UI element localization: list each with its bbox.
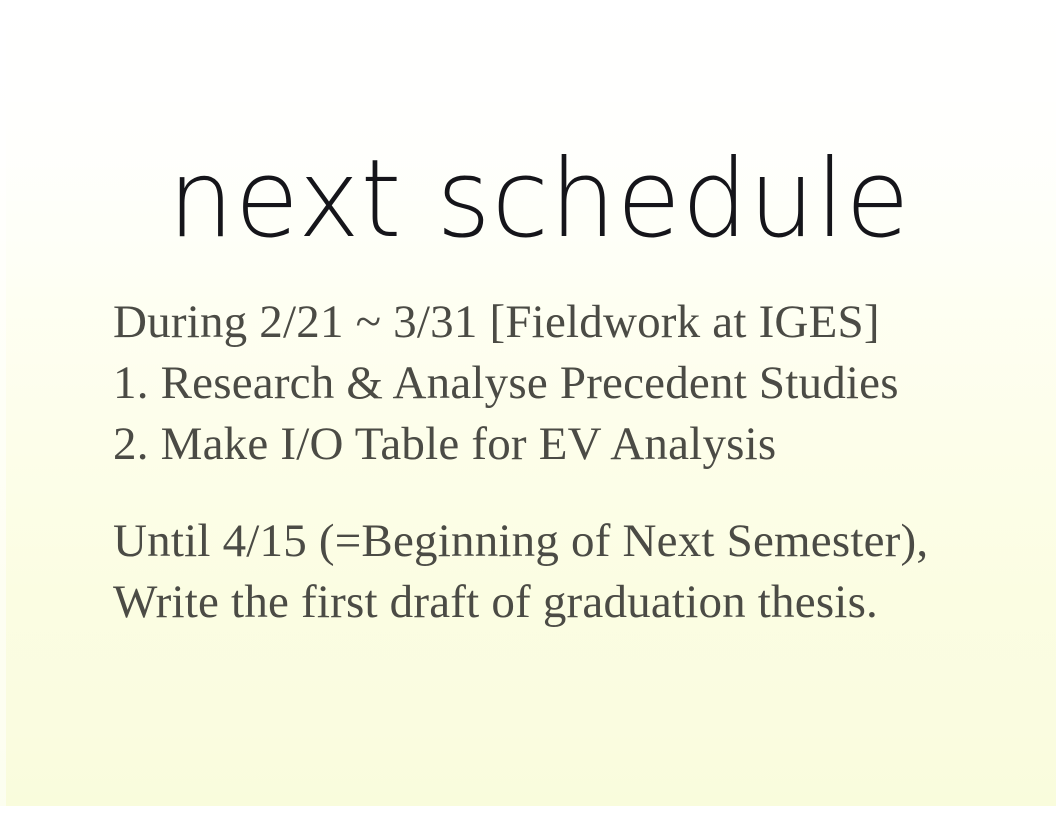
slide-canvas: next schedule During 2/21 ~ 3/31 [Fieldw… (0, 0, 1056, 806)
slide-left-trim (0, 0, 6, 806)
schedule-block-two-line-1: Until 4/15 (=Beginning of Next Semester)… (113, 511, 1013, 572)
schedule-block-two-line-2: Write the first draft of graduation thes… (113, 572, 1013, 633)
paragraph-spacer (113, 475, 1013, 511)
schedule-block-one-heading: During 2/21 ~ 3/31 [Fieldwork at IGES] (113, 292, 1013, 353)
schedule-task-item-1: 1. Research & Analyse Precedent Studies (113, 353, 1013, 414)
slide-body: During 2/21 ~ 3/31 [Fieldwork at IGES] 1… (113, 292, 1013, 633)
schedule-task-item-2: 2. Make I/O Table for EV Analysis (113, 414, 1013, 475)
slide-bottom-trim (0, 806, 1056, 816)
slide-title: next schedule (168, 136, 948, 261)
